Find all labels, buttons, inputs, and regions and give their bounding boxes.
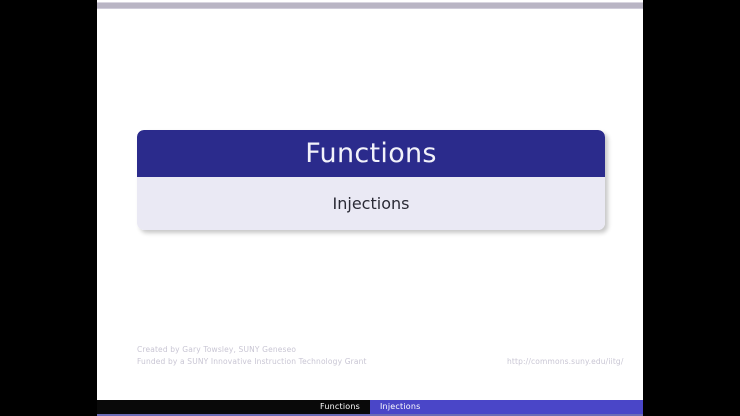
video-player-frame: Functions Injections Created by Gary Tow… [0,0,740,416]
nav-section-functions[interactable]: Functions [97,400,370,414]
title-bar: Functions [137,130,605,177]
subtitle-bar: Injections [137,177,605,230]
nav-section-injections[interactable]: Injections [370,400,643,414]
slide-navigation-bar[interactable]: Functions Injections [97,400,643,414]
letterbox-left [0,0,97,416]
nav-label-functions: Functions [320,403,360,411]
nav-label-injections: Injections [380,403,420,411]
presentation-slide: Functions Injections Created by Gary Tow… [97,0,643,416]
letterbox-right [643,0,740,416]
slide-top-strip [97,2,643,9]
title-block: Functions Injections [137,130,605,230]
slide-subtitle: Injections [333,196,410,212]
credits-author-line: Created by Gary Towsley, SUNY Geneseo [137,344,607,356]
credits-url: http://commons.suny.edu/iitg/ [507,356,624,368]
slide-title: Functions [305,140,437,167]
credits-block: Created by Gary Towsley, SUNY Geneseo Fu… [137,344,607,368]
